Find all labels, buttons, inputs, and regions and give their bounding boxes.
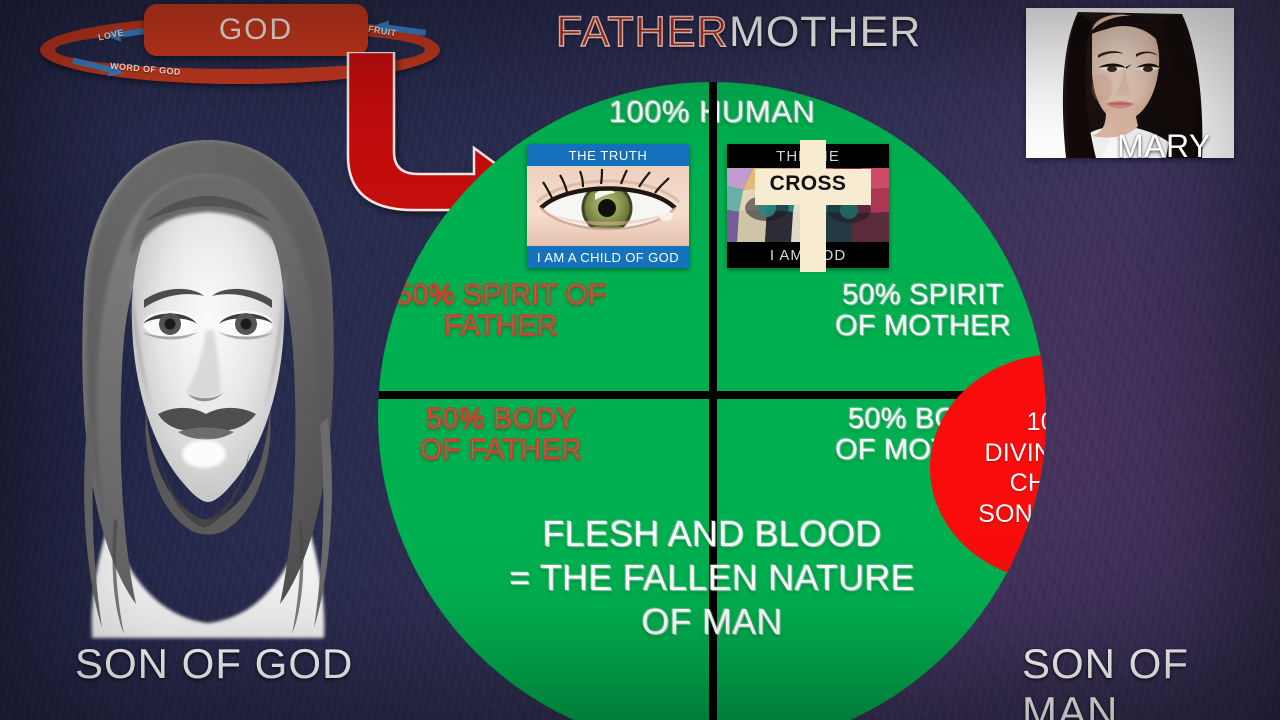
horizontal-divider-line <box>378 391 1046 399</box>
god-title-text: GOD <box>219 13 293 47</box>
son-of-god-label: SON OF GOD <box>75 640 353 688</box>
son-of-man-label: SON OF MAN <box>1022 640 1280 720</box>
the-lie-card: THE LIE <box>727 144 889 268</box>
the-truth-bottom-label: I AM A CHILD OF GOD <box>527 246 689 268</box>
quadrant-body-of-father: 50% BODY OF FATHER <box>386 404 616 467</box>
mary-label: MARY <box>1117 128 1211 165</box>
quadrant-spirit-of-father: 50% SPIRIT OF FATHER <box>386 280 616 343</box>
quadrant-body-of-father-line1: 50% BODY <box>386 404 616 435</box>
quadrant-body-of-father-line2: OF FATHER <box>386 435 616 466</box>
fallen-nature-text: FLESH AND BLOOD = THE FALLEN NATURE OF M… <box>418 512 1006 644</box>
divinity-line1: 100% <box>1027 407 1046 438</box>
cross-vertical-beam-icon <box>800 140 826 272</box>
fallen-nature-line1: FLESH AND BLOOD <box>418 512 1006 556</box>
god-title-pill: GOD <box>144 4 368 56</box>
cross-label: CROSS <box>727 172 889 196</box>
mother-title: MOTHER <box>729 8 921 57</box>
quadrant-spirit-of-mother: 50% SPIRIT OF MOTHER <box>808 280 1038 343</box>
quadrant-spirit-of-mother-line1: 50% SPIRIT <box>808 280 1038 311</box>
human-nature-circle: 100% HUMAN 50% SPIRIT OF FATHER 50% BODY… <box>378 82 1046 720</box>
the-truth-top-label: THE TRUTH <box>527 144 689 166</box>
fallen-nature-line3: OF MAN <box>418 600 1006 644</box>
the-truth-card: THE TRUTH <box>527 144 689 268</box>
divinity-line2: DIVINITY OF <box>985 438 1047 469</box>
quadrant-spirit-of-father-line2: FATHER <box>386 311 616 342</box>
divinity-line3: CHRIST, <box>1010 468 1046 499</box>
quadrant-spirit-of-mother-line2: OF MOTHER <box>808 311 1038 342</box>
fallen-nature-line2: = THE FALLEN NATURE <box>418 556 1006 600</box>
quadrant-spirit-of-father-line1: 50% SPIRIT OF <box>386 280 616 311</box>
human-eye-image <box>527 166 689 246</box>
divinity-line4: SON OF GOD <box>978 499 1046 530</box>
father-title: FATHER <box>556 8 728 57</box>
